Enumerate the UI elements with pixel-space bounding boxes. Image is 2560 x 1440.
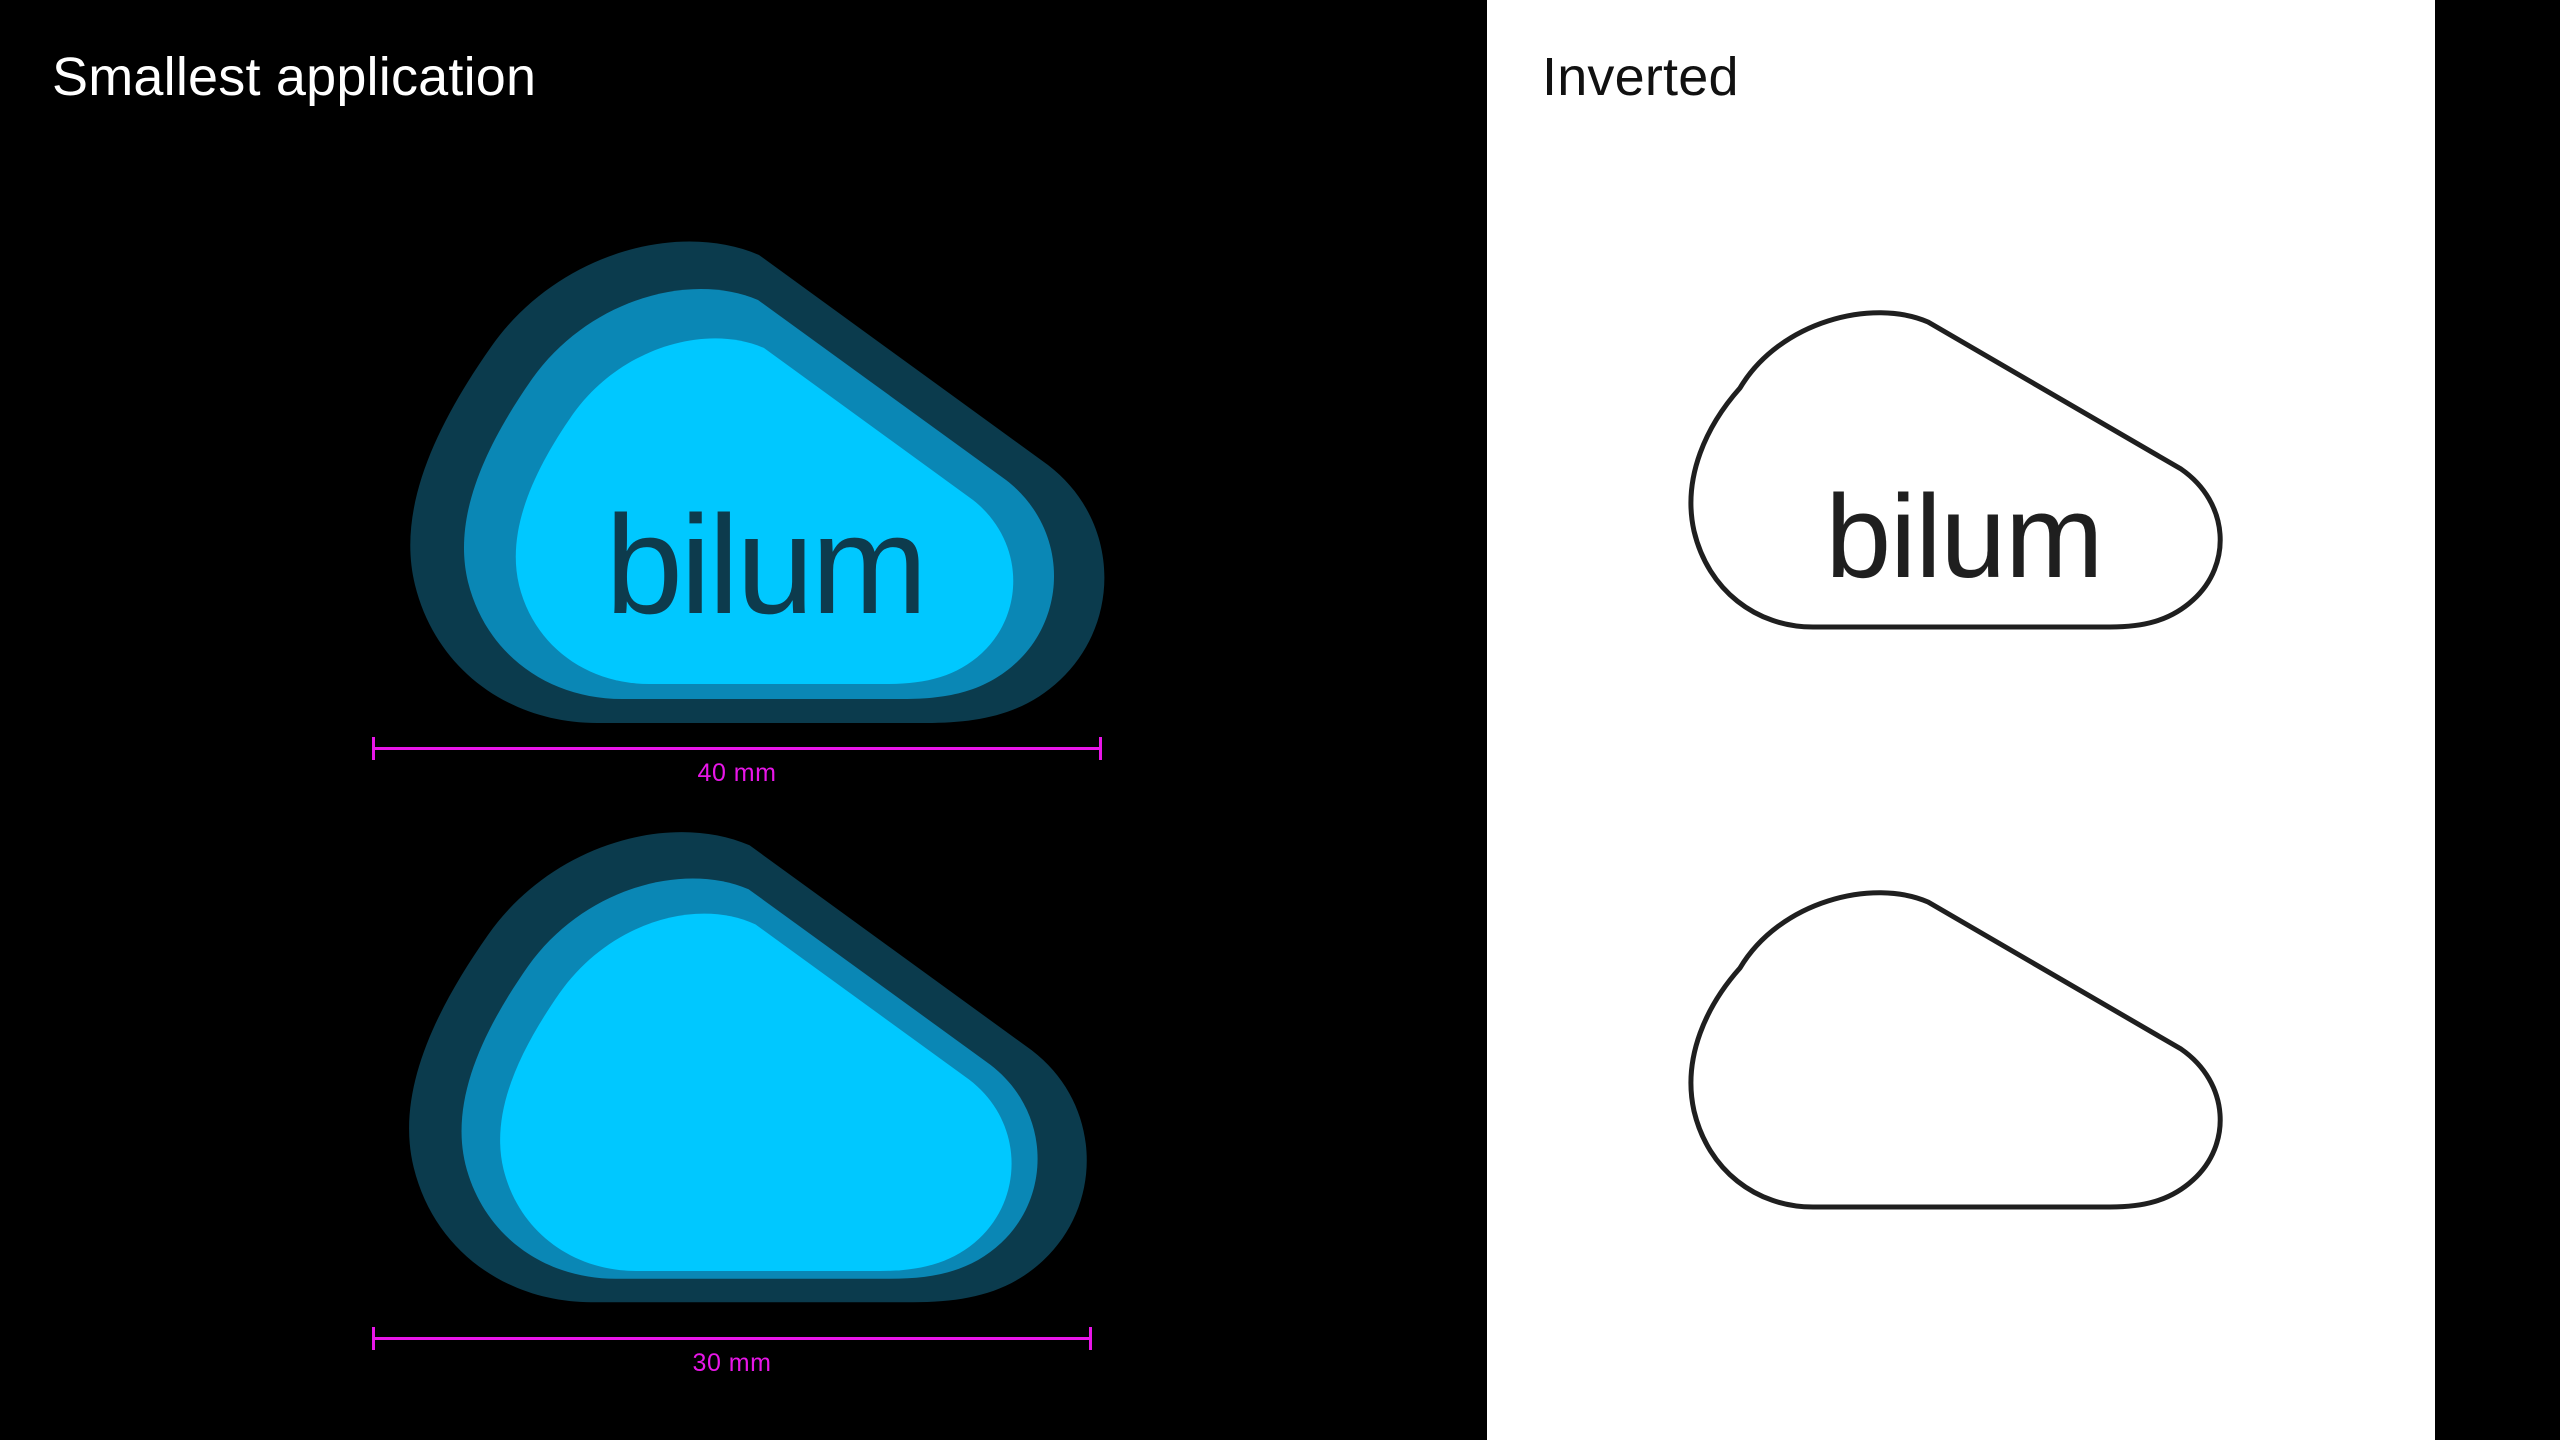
bilum-logo-color-with-wordmark: bilum: [360, 228, 1120, 728]
bilum-logo-outline-mark-only: [1660, 880, 2260, 1240]
logo-outline-shape: [1691, 893, 2220, 1207]
bilum-logo-color-mark-only: [360, 818, 1102, 1308]
dimension-label-30mm: 30 mm: [372, 1351, 1092, 1376]
dimension-cap-right: [1089, 1327, 1092, 1350]
brand-guideline-canvas: Smallest application Inverted bilum 40 m…: [0, 0, 2560, 1440]
logo-wordmark-text: bilum: [1826, 471, 2103, 603]
section-title-inverted: Inverted: [1542, 50, 1739, 104]
dimension-label-40mm: 40 mm: [372, 761, 1102, 786]
bilum-logo-outline-with-wordmark: bilum: [1660, 300, 2260, 660]
dimension-line: [372, 747, 1102, 750]
section-title-smallest-application: Smallest application: [52, 50, 536, 104]
dimension-line: [372, 1337, 1092, 1340]
dimension-40mm: 40 mm: [372, 735, 1102, 795]
dimension-30mm: 30 mm: [372, 1325, 1092, 1385]
panel-right-black-margin: [2435, 0, 2560, 1440]
logo-wordmark-text: bilum: [605, 486, 925, 643]
dimension-cap-right: [1099, 737, 1102, 760]
